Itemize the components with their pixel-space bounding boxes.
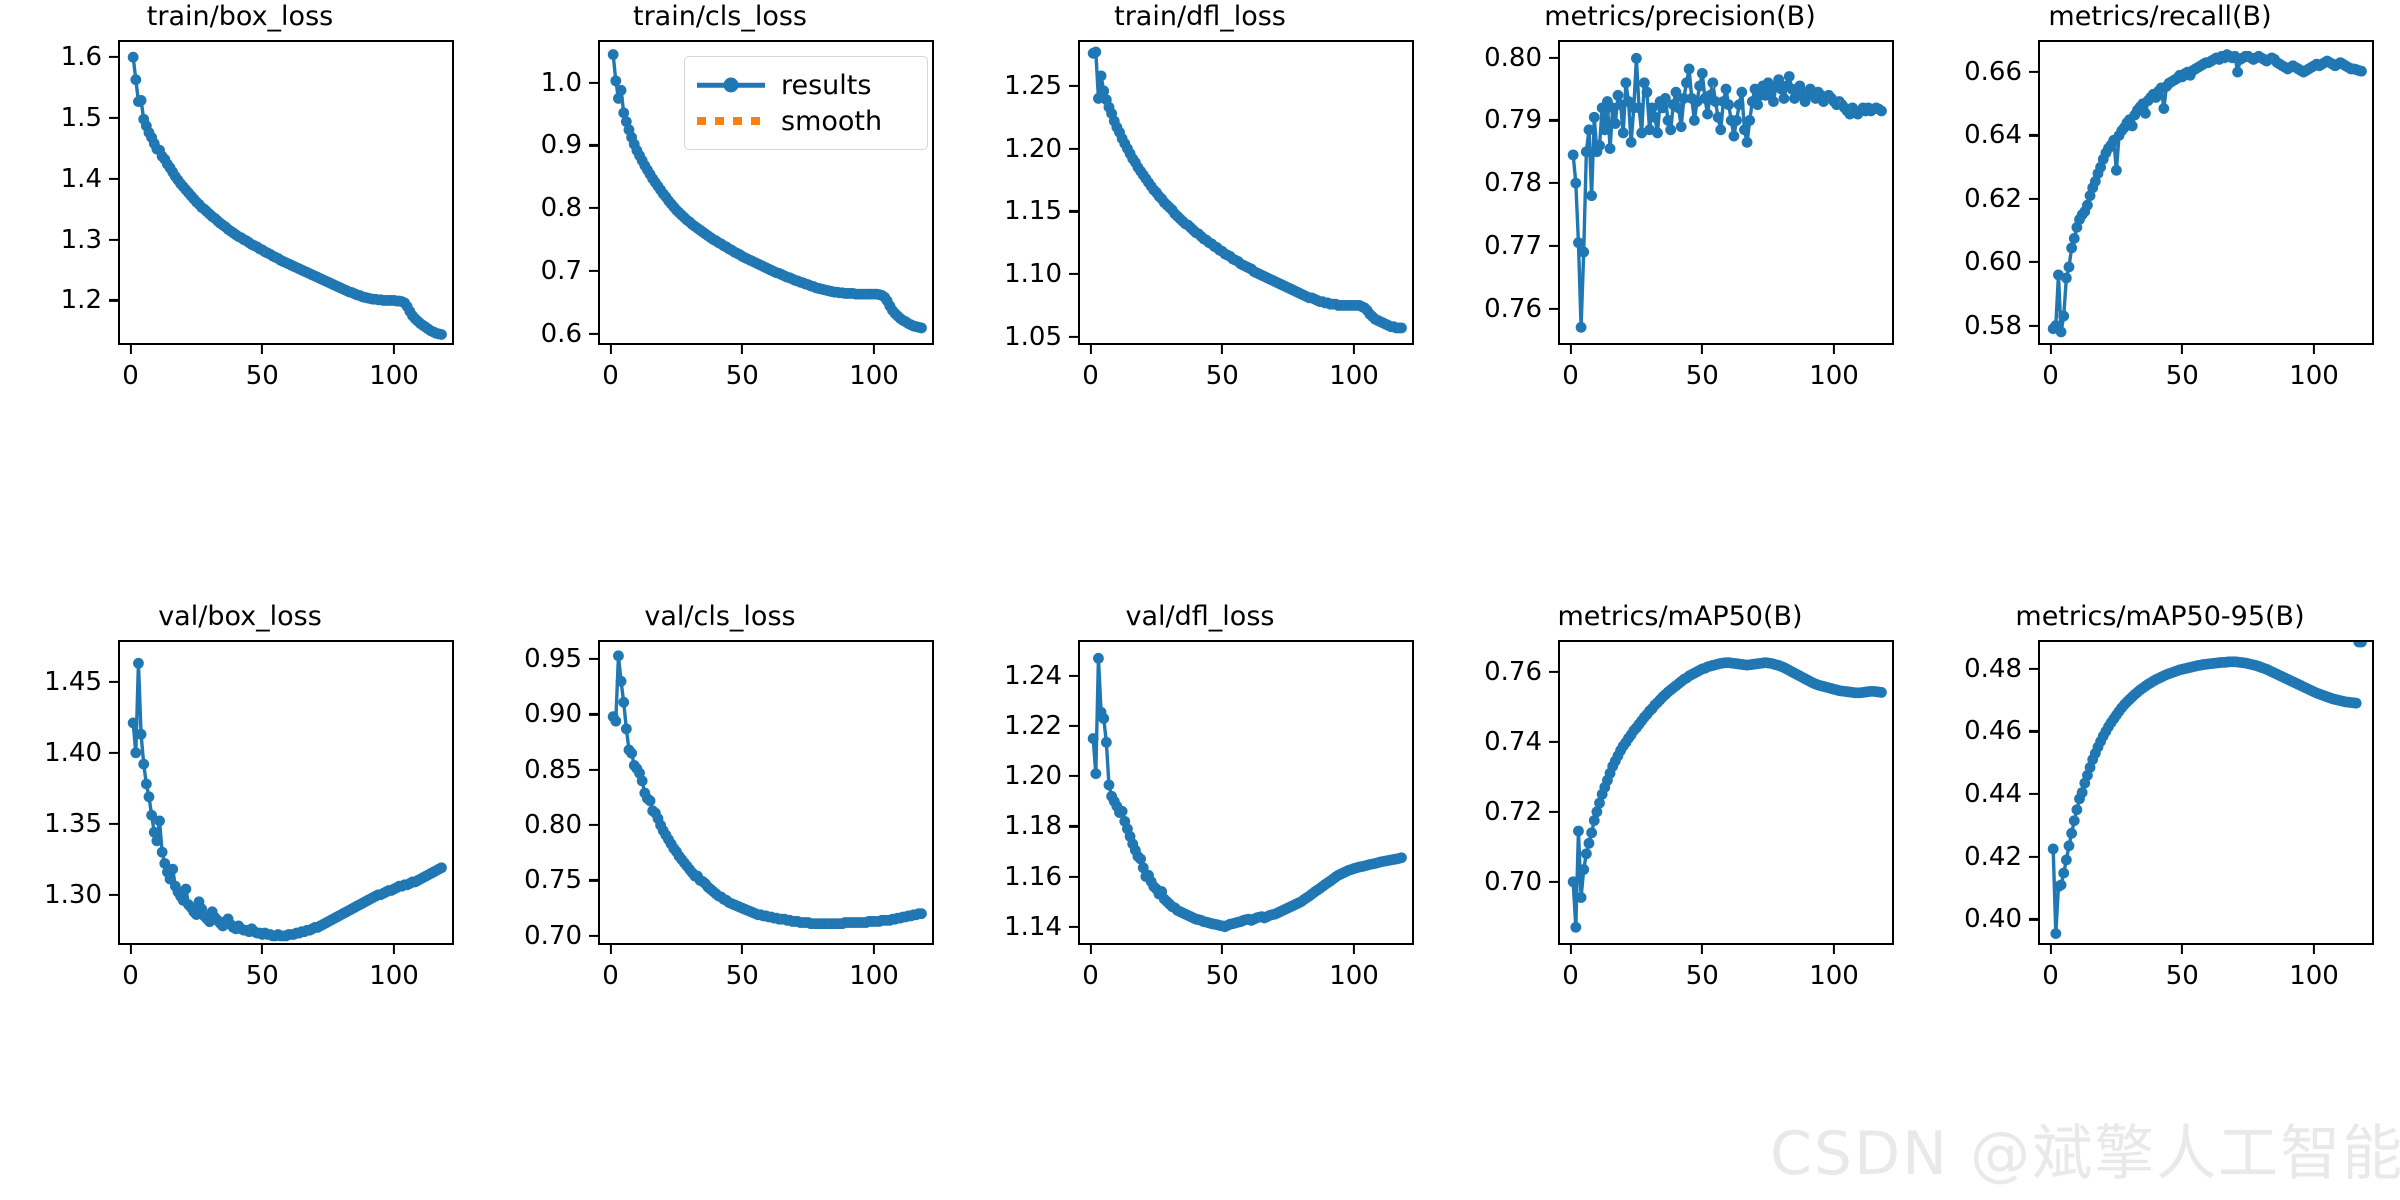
x-tick-mark <box>261 345 263 354</box>
results-marker <box>1742 137 1753 148</box>
y-tick-mark <box>1069 775 1078 777</box>
results-marker <box>136 729 147 740</box>
results-marker <box>136 95 147 106</box>
results-marker <box>1876 687 1887 698</box>
plot-area <box>598 640 934 945</box>
subplot-metrics-map50-b-: metrics/mAP50(B)0.700.720.740.76050100 <box>1440 600 1920 1005</box>
y-tick-label: 1.18 <box>960 811 1062 841</box>
x-tick-mark <box>873 345 875 354</box>
y-tick-mark <box>109 752 118 754</box>
y-tick-mark <box>2029 71 2038 73</box>
plot-area <box>2038 40 2374 345</box>
y-tick-label: 0.78 <box>1440 168 1542 198</box>
subplot-title: train/dfl_loss <box>960 0 1440 34</box>
y-tick-label: 0.46 <box>1920 716 2022 746</box>
subplot-metrics-map50-95-b-: metrics/mAP50-95(B)0.400.420.440.460.480… <box>1920 600 2400 1005</box>
x-tick-mark <box>393 945 395 954</box>
x-tick-mark <box>1221 945 1223 954</box>
results-marker <box>621 723 632 734</box>
results-marker <box>1610 118 1621 129</box>
results-marker <box>1731 115 1742 126</box>
subplot-metrics-precision-b-: metrics/precision(B)0.760.770.780.790.80… <box>1440 0 1920 405</box>
x-tick-label: 0 <box>1562 361 1579 391</box>
x-tick-mark <box>1833 945 1835 954</box>
y-tick-label: 0.80 <box>480 810 582 840</box>
series-canvas <box>1560 642 1892 943</box>
y-tick-mark <box>109 178 118 180</box>
results-marker <box>2071 804 2082 815</box>
results-marker <box>1117 806 1128 817</box>
results-marker <box>618 697 629 708</box>
y-tick-label: 1.6 <box>0 42 102 72</box>
x-tick-mark <box>741 345 743 354</box>
results-marker <box>2048 844 2059 855</box>
results-marker <box>1396 323 1407 334</box>
y-tick-label: 1.30 <box>0 880 102 910</box>
results-marker <box>1620 77 1631 88</box>
x-tick-label: 0 <box>602 361 619 391</box>
x-tick-mark <box>2049 945 2051 954</box>
x-tick-mark <box>1833 345 1835 354</box>
results-line <box>133 57 441 334</box>
results-marker <box>2056 327 2067 338</box>
results-marker <box>1642 87 1653 98</box>
results-marker <box>1681 77 1692 88</box>
results-line <box>1093 52 1401 328</box>
x-tick-label: 0 <box>2042 961 2059 991</box>
x-tick-mark <box>1569 945 1571 954</box>
results-marker <box>128 718 139 729</box>
series-canvas <box>120 42 452 343</box>
y-tick-label: 0.9 <box>480 130 582 160</box>
x-tick-label: 0 <box>122 961 139 991</box>
results-marker <box>1744 115 1755 126</box>
y-tick-mark <box>589 270 598 272</box>
y-tick-label: 0.64 <box>1920 120 2022 150</box>
results-line <box>2053 662 2356 934</box>
smooth-line <box>1093 726 1401 926</box>
y-tick-label: 0.75 <box>480 865 582 895</box>
results-marker <box>1568 149 1579 160</box>
y-tick-mark <box>1549 307 1558 309</box>
results-marker <box>2050 928 2061 939</box>
y-tick-label: 1.40 <box>0 738 102 768</box>
y-tick-label: 0.79 <box>1440 105 1542 135</box>
results-marker <box>1093 653 1104 664</box>
x-tick-label: 100 <box>1809 361 1859 391</box>
y-tick-mark <box>1549 811 1558 813</box>
results-marker <box>1570 178 1581 189</box>
subplot-title: metrics/mAP50(B) <box>1440 600 1920 634</box>
y-tick-mark <box>589 769 598 771</box>
results-marker <box>1581 146 1592 157</box>
y-tick-label: 1.15 <box>960 196 1062 226</box>
results-marker <box>2232 67 2243 78</box>
results-marker <box>2351 698 2362 709</box>
legend-marker-glyph <box>724 78 739 93</box>
y-tick-label: 0.85 <box>480 755 582 785</box>
y-tick-mark <box>2029 324 2038 326</box>
results-marker <box>1634 102 1645 113</box>
y-tick-mark <box>1549 182 1558 184</box>
x-tick-mark <box>129 345 131 354</box>
subplot-title: val/cls_loss <box>480 600 960 634</box>
results-marker <box>1581 848 1592 859</box>
x-tick-mark <box>609 945 611 954</box>
results-marker <box>1589 112 1600 123</box>
y-tick-label: 1.5 <box>0 103 102 133</box>
subplot-val-cls_loss: val/cls_loss0.700.750.800.850.900.950501… <box>480 600 960 1005</box>
x-tick-mark <box>2181 345 2183 354</box>
results-marker <box>1652 128 1663 139</box>
results-marker <box>1618 128 1629 139</box>
x-tick-mark <box>1569 345 1571 354</box>
x-tick-label: 100 <box>2289 361 2339 391</box>
y-tick-label: 0.77 <box>1440 231 1542 261</box>
subplot-title: train/cls_loss <box>480 0 960 34</box>
results-marker <box>1586 190 1597 201</box>
x-tick-label: 50 <box>1206 961 1239 991</box>
results-marker <box>1090 768 1101 779</box>
y-tick-mark <box>2029 198 2038 200</box>
legend-entry[interactable]: smooth <box>697 103 913 139</box>
y-tick-mark <box>109 894 118 896</box>
results-marker <box>2056 880 2067 891</box>
subplot-title: metrics/mAP50-95(B) <box>1920 600 2400 634</box>
results-marker <box>626 748 637 759</box>
results-marker <box>436 862 447 873</box>
x-tick-label: 50 <box>726 361 759 391</box>
subplot-train-box_loss: train/box_loss1.21.31.41.51.6050100 <box>0 0 480 405</box>
results-marker <box>1088 733 1099 744</box>
results-marker <box>610 75 621 86</box>
results-marker <box>1594 140 1605 151</box>
y-tick-mark <box>2029 668 2038 670</box>
results-marker <box>154 816 165 827</box>
results-marker <box>1649 112 1660 123</box>
plot-area <box>1558 640 1894 945</box>
plot-area <box>118 640 454 945</box>
x-tick-label: 50 <box>1686 961 1719 991</box>
results-marker <box>1729 131 1740 142</box>
y-tick-mark <box>1549 881 1558 883</box>
y-tick-label: 1.35 <box>0 809 102 839</box>
x-tick-label: 50 <box>246 361 279 391</box>
x-tick-mark <box>2313 945 2315 954</box>
results-marker <box>1697 68 1708 79</box>
y-tick-mark <box>589 658 598 660</box>
x-tick-mark <box>1221 345 1223 354</box>
y-tick-mark <box>589 935 598 937</box>
x-tick-label: 100 <box>369 961 419 991</box>
results-marker <box>1584 838 1595 849</box>
results-marker <box>2077 787 2088 798</box>
x-tick-label: 100 <box>1329 361 1379 391</box>
y-tick-label: 0.95 <box>480 644 582 674</box>
results-marker <box>1768 96 1779 107</box>
results-marker <box>1702 109 1713 120</box>
y-tick-label: 0.6 <box>480 319 582 349</box>
results-marker <box>2058 311 2069 322</box>
plot-area <box>2038 640 2374 945</box>
y-tick-mark <box>2029 134 2038 136</box>
series-canvas <box>120 642 452 943</box>
x-tick-label: 50 <box>1206 361 1239 391</box>
results-marker <box>141 779 152 790</box>
results-marker <box>144 791 155 802</box>
results-marker <box>1631 53 1642 64</box>
x-tick-mark <box>609 345 611 354</box>
y-tick-mark <box>1549 245 1558 247</box>
y-tick-label: 0.60 <box>1920 247 2022 277</box>
results-marker <box>1570 922 1581 933</box>
y-tick-mark <box>109 239 118 241</box>
plot-area <box>118 40 454 345</box>
y-tick-label: 0.74 <box>1440 727 1542 757</box>
csdn-watermark: CSDN @斌擎人工智能官方账号 <box>1770 1105 2400 1192</box>
results-marker <box>2356 66 2367 77</box>
results-marker <box>2082 200 2093 211</box>
results-marker <box>128 52 139 63</box>
results-marker <box>1576 892 1587 903</box>
series-canvas <box>600 642 932 943</box>
x-tick-label: 100 <box>849 961 899 991</box>
y-tick-mark <box>1069 148 1078 150</box>
subplot-train-dfl_loss: train/dfl_loss1.051.101.151.201.25050100 <box>960 0 1440 405</box>
results-marker <box>1090 47 1101 58</box>
results-marker <box>1573 237 1584 248</box>
results-marker <box>1657 102 1668 113</box>
results-marker <box>1663 115 1674 126</box>
legend-entry[interactable]: results <box>697 67 913 103</box>
y-tick-label: 0.76 <box>1440 657 1542 687</box>
x-tick-mark <box>1353 945 1355 954</box>
results-line <box>1573 663 1881 928</box>
series-canvas <box>1560 42 1892 343</box>
x-tick-mark <box>393 345 395 354</box>
results-marker <box>1568 876 1579 887</box>
x-tick-mark <box>129 945 131 954</box>
y-tick-mark <box>1549 119 1558 121</box>
y-tick-label: 0.66 <box>1920 57 2022 87</box>
results-marker <box>1736 87 1747 98</box>
y-tick-mark <box>109 823 118 825</box>
y-tick-label: 0.90 <box>480 699 582 729</box>
results-line <box>1093 658 1401 926</box>
y-tick-mark <box>589 144 598 146</box>
results-marker <box>1752 99 1763 110</box>
plot-area <box>1558 40 1894 345</box>
y-tick-label: 0.40 <box>1920 904 2022 934</box>
results-marker <box>2066 243 2077 254</box>
y-tick-mark <box>589 824 598 826</box>
y-tick-label: 1.3 <box>0 225 102 255</box>
y-tick-label: 1.2 <box>0 285 102 315</box>
x-tick-label: 0 <box>122 361 139 391</box>
x-tick-mark <box>261 945 263 954</box>
series-canvas <box>1080 42 1412 343</box>
y-tick-mark <box>1069 85 1078 87</box>
y-tick-mark <box>2029 918 2038 920</box>
x-tick-mark <box>2049 345 2051 354</box>
legend-label: results <box>781 70 871 101</box>
results-marker <box>167 864 178 875</box>
x-tick-label: 50 <box>1686 361 1719 391</box>
results-marker <box>1104 780 1115 791</box>
results-marker <box>2127 121 2138 132</box>
results-figure: CSDN @斌擎人工智能官方账号 train/box_loss1.21.31.4… <box>0 0 2400 1200</box>
y-tick-label: 0.48 <box>1920 654 2022 684</box>
y-tick-mark <box>109 299 118 301</box>
results-marker <box>2064 840 2075 851</box>
y-tick-label: 0.44 <box>1920 779 2022 809</box>
y-tick-mark <box>2029 856 2038 858</box>
results-marker <box>1715 124 1726 135</box>
results-marker <box>1676 121 1687 132</box>
y-tick-label: 0.70 <box>1440 867 1542 897</box>
results-marker <box>1721 84 1732 95</box>
results-marker <box>1694 81 1705 92</box>
results-marker <box>616 676 627 687</box>
series-canvas <box>2040 42 2372 343</box>
y-tick-mark <box>589 879 598 881</box>
results-marker <box>1723 99 1734 110</box>
y-tick-label: 1.45 <box>0 667 102 697</box>
results-marker <box>1739 124 1750 135</box>
series-canvas <box>1080 642 1412 943</box>
smooth-line <box>2053 58 2361 324</box>
results-line <box>613 656 921 924</box>
results-marker <box>1626 137 1637 148</box>
x-tick-mark <box>741 945 743 954</box>
y-tick-label: 0.62 <box>1920 184 2022 214</box>
x-tick-label: 100 <box>1329 961 1379 991</box>
x-tick-label: 0 <box>2042 361 2059 391</box>
y-tick-label: 1.05 <box>960 322 1062 352</box>
subplot-title: val/dfl_loss <box>960 600 1440 634</box>
x-tick-label: 50 <box>2166 361 2199 391</box>
results-marker <box>916 908 927 919</box>
legend-dotted-glyph <box>697 117 765 125</box>
legend-label: smooth <box>781 106 882 137</box>
y-tick-label: 1.20 <box>960 134 1062 164</box>
x-tick-label: 100 <box>849 361 899 391</box>
y-tick-label: 1.16 <box>960 862 1062 892</box>
results-marker <box>157 847 168 858</box>
y-tick-mark <box>1069 875 1078 877</box>
smooth-line <box>1093 71 1401 328</box>
x-tick-label: 50 <box>246 961 279 991</box>
y-tick-label: 0.58 <box>1920 311 2022 341</box>
x-tick-label: 100 <box>1809 961 1859 991</box>
results-marker <box>1584 124 1595 135</box>
results-marker <box>1779 93 1790 104</box>
y-tick-mark <box>1069 725 1078 727</box>
results-marker <box>2111 165 2122 176</box>
results-marker <box>1684 64 1695 75</box>
x-tick-mark <box>1089 345 1091 354</box>
y-tick-label: 1.20 <box>960 761 1062 791</box>
results-marker <box>1096 70 1107 81</box>
y-tick-mark <box>1549 57 1558 59</box>
y-tick-mark <box>1069 273 1078 275</box>
y-tick-label: 1.14 <box>960 912 1062 942</box>
plot-area <box>1078 40 1414 345</box>
y-tick-mark <box>589 82 598 84</box>
results-marker <box>1713 112 1724 123</box>
results-line <box>2053 55 2361 332</box>
y-tick-mark <box>109 56 118 58</box>
subplot-title: metrics/recall(B) <box>1920 0 2400 34</box>
y-tick-label: 1.22 <box>960 711 1062 741</box>
legend: resultssmooth <box>684 56 928 150</box>
y-tick-mark <box>1069 825 1078 827</box>
smooth-line <box>1573 663 1881 881</box>
subplot-val-box_loss: val/box_loss1.301.351.401.45050100 <box>0 600 480 1005</box>
results-marker <box>1673 102 1684 113</box>
x-tick-mark <box>873 945 875 954</box>
results-marker <box>138 759 149 770</box>
results-marker <box>2064 262 2075 273</box>
results-marker <box>2069 815 2080 826</box>
y-tick-label: 0.70 <box>480 921 582 951</box>
results-marker <box>2069 233 2080 244</box>
results-marker <box>1605 143 1616 154</box>
y-tick-mark <box>2029 261 2038 263</box>
x-tick-label: 0 <box>1562 961 1579 991</box>
results-marker <box>180 884 191 895</box>
x-tick-mark <box>2313 345 2315 354</box>
y-tick-mark <box>2029 793 2038 795</box>
results-marker <box>1101 737 1112 748</box>
y-tick-mark <box>1069 210 1078 212</box>
y-tick-label: 0.7 <box>480 256 582 286</box>
x-tick-label: 0 <box>1082 361 1099 391</box>
x-tick-label: 0 <box>1082 961 1099 991</box>
y-tick-mark <box>2029 730 2038 732</box>
subplot-title: val/box_loss <box>0 600 480 634</box>
x-tick-mark <box>2181 945 2183 954</box>
x-tick-mark <box>1701 345 1703 354</box>
results-marker <box>1599 124 1610 135</box>
results-marker <box>1613 90 1624 101</box>
results-marker <box>151 835 162 846</box>
y-tick-label: 1.0 <box>480 68 582 98</box>
results-marker <box>2058 868 2069 879</box>
results-marker <box>2061 855 2072 866</box>
results-marker <box>1876 106 1887 117</box>
results-marker <box>1578 864 1589 875</box>
results-marker <box>1639 77 1650 88</box>
y-tick-mark <box>109 117 118 119</box>
y-tick-mark <box>1069 926 1078 928</box>
y-tick-mark <box>589 333 598 335</box>
results-marker <box>130 747 141 758</box>
y-tick-mark <box>589 207 598 209</box>
results-marker <box>2158 103 2169 114</box>
subplot-metrics-recall-b-: metrics/recall(B)0.580.600.620.640.66050… <box>1920 0 2400 405</box>
results-marker <box>645 795 656 806</box>
x-tick-label: 50 <box>726 961 759 991</box>
y-tick-mark <box>109 681 118 683</box>
results-marker <box>637 775 648 786</box>
y-tick-mark <box>1549 741 1558 743</box>
plot-area <box>1078 640 1414 945</box>
results-marker <box>436 329 447 340</box>
results-marker <box>610 716 621 727</box>
subplot-val-dfl_loss: val/dfl_loss1.141.161.181.201.221.240501… <box>960 600 1440 1005</box>
series-canvas <box>2040 642 2372 943</box>
